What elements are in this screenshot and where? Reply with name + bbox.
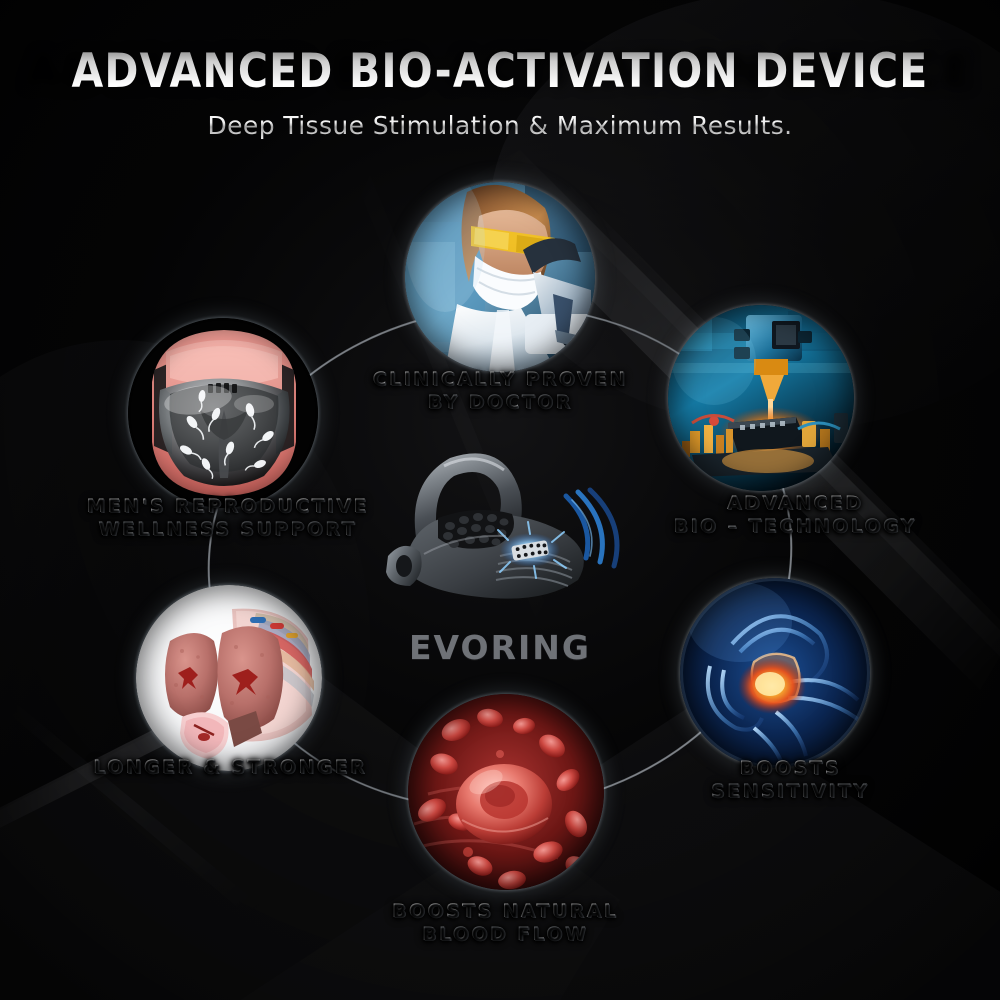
- red-blood-cells-render: [408, 694, 604, 890]
- tissue-cross-section-illustration: [136, 585, 322, 771]
- page-title: ADVANCED BIO-ACTIVATION DEVICE: [15, 0, 985, 99]
- feature-label-boosts-sensitivity: BOOSTS SENSITIVITY: [640, 757, 940, 803]
- feature-label-clinically-proven: CLINICALLY PROVEN BY DOCTOR: [310, 368, 690, 414]
- product-image[interactable]: [380, 430, 630, 620]
- feature-label-longer-and-stronger: LONGER & STRONGER: [50, 756, 410, 779]
- evoring-device-render: [380, 430, 630, 620]
- feature-image-mens-reproductive-wellness[interactable]: [128, 318, 318, 508]
- feature-label-mens-reproductive-wellness: MEN'S REPRODUCTIVE WELLNESS SUPPORT: [40, 495, 415, 541]
- feature-image-longer-and-stronger[interactable]: [136, 585, 322, 771]
- circuit-board-assembly-photo: [668, 305, 854, 491]
- scientist-microscope-photo: [405, 182, 595, 372]
- feature-label-boosts-natural-blood-flow: BOOSTS NATURAL BLOOD FLOW: [315, 900, 695, 946]
- feature-image-advanced-bio-technology[interactable]: [668, 305, 854, 491]
- feature-image-boosts-natural-blood-flow[interactable]: [408, 694, 604, 890]
- product-brand-label: EVORING: [0, 628, 1000, 667]
- reproductive-anatomy-illustration: [128, 318, 318, 508]
- page-subtitle: Deep Tissue Stimulation & Maximum Result…: [0, 111, 1000, 140]
- feature-image-boosts-sensitivity[interactable]: [680, 578, 870, 768]
- header: ADVANCED BIO-ACTIVATION DEVICE ADVANCED …: [0, 0, 1000, 140]
- feature-label-advanced-bio-technology: ADVANCED BIO – TECHNOLOGY: [600, 492, 990, 538]
- feature-image-clinically-proven[interactable]: [405, 182, 595, 372]
- pelvic-xray-glow-render: [680, 578, 870, 768]
